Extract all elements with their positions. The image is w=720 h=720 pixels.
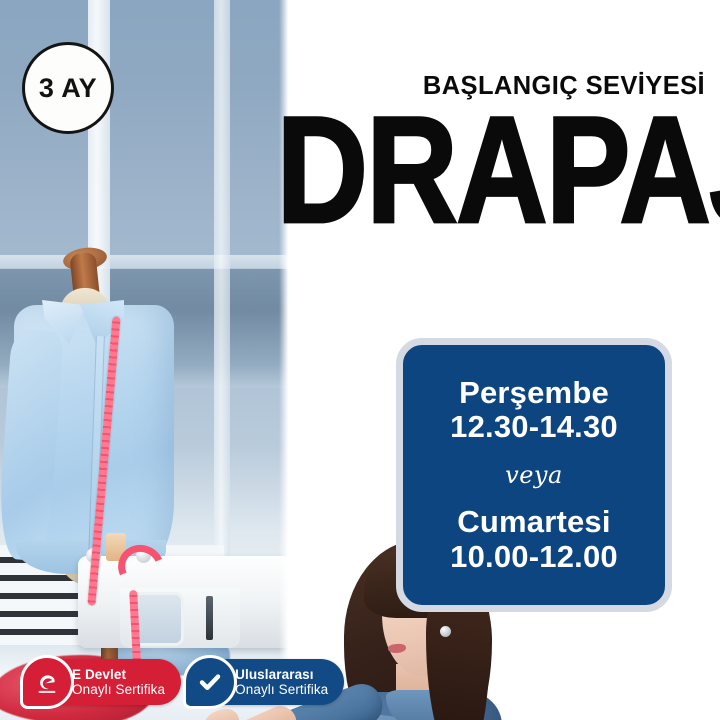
certificate-badge-international[interactable]: Uluslararası Onaylı Sertifika [189,659,344,705]
certificate-subtitle-1: Onaylı Sertifika [72,682,165,697]
denim-shirt-torso [332,692,502,720]
schedule-time-2: 10.00-12.00 [450,540,618,575]
neck [396,664,442,710]
schedule-separator: veya [505,461,563,489]
certificate-text-edevlet: E Devlet Onaylı Sertifika [72,667,165,697]
promo-poster: 3 AY BAŞLANGIÇ SEVİYESİ DRAPAJ Perşembe … [0,0,720,720]
schedule-option-2: Cumartesi 10.00-12.00 [450,505,618,574]
schedule-option-1: Perşembe 12.30-14.30 [450,376,618,445]
earring [440,626,451,637]
duration-badge-label: 3 AY [39,73,97,104]
lips [388,643,407,653]
certificate-title-2: Uluslararası [235,667,328,682]
certificate-badges: E Devlet Onaylı Sertifika Uluslararası O… [26,659,344,705]
headline-block: BAŞLANGIÇ SEVİYESİ DRAPAJ [285,74,705,212]
duration-badge: 3 AY [22,42,114,134]
check-circle-icon [183,655,237,709]
window-frame-vertical-2 [214,0,230,560]
certificate-title-1: E Devlet [72,667,165,682]
schedule-card: Perşembe 12.30-14.30 veya Cumartesi 10.0… [396,338,672,612]
schedule-day-2: Cumartesi [450,505,618,540]
certificate-text-international: Uluslararası Onaylı Sertifika [235,667,328,697]
denim-shirt-yoke [340,710,470,720]
schedule-day-1: Perşembe [450,376,618,411]
certificate-subtitle-2: Onaylı Sertifika [235,682,328,697]
denim-shirt-collar [386,690,458,720]
schedule-time-1: 12.30-14.30 [450,410,618,445]
edevlet-logo-icon [20,655,74,709]
sewing-machine-needle [206,596,213,640]
certificate-badge-edevlet[interactable]: E Devlet Onaylı Sertifika [26,659,181,705]
page-title: DRAPAJ [277,106,705,236]
window-frame-horizontal [0,255,289,269]
